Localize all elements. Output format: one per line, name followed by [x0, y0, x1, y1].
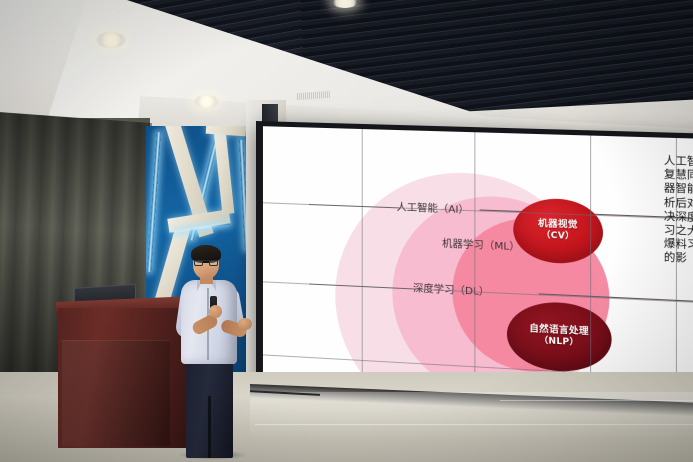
presenter-leg-seam	[208, 396, 211, 458]
bezel-seam-vertical	[362, 129, 363, 382]
floor-tile-seam	[255, 424, 693, 425]
slide-side-text: 人工智造复慧同机器智能解析后对出决深度学习之大数爆料习造的影	[664, 154, 693, 267]
lightning-bolt-decor	[206, 126, 247, 136]
glasses-bridge-icon	[194, 260, 218, 266]
led-strip-icon	[147, 132, 161, 272]
lightning-bolt-decor	[214, 130, 235, 215]
label-ml: 机器学习（ML）	[442, 235, 520, 254]
ellipse-nlp-line2: （NLP）	[539, 336, 579, 350]
bezel-seam-vertical	[590, 136, 591, 396]
bezel-seam-vertical	[676, 138, 677, 401]
presentation-slide: 人工智能（AI） 机器学习（ML） 深度学习（DL） 机器视觉 （CV） 自然语…	[263, 126, 693, 403]
photo-scene: 人工智能（AI） 机器学习（ML） 深度学习（DL） 机器视觉 （CV） 自然语…	[0, 0, 693, 462]
video-wall-screen[interactable]: 人工智能（AI） 机器学习（ML） 深度学习（DL） 机器视觉 （CV） 自然语…	[263, 126, 693, 403]
presenter-right-hand	[238, 318, 252, 330]
downlight-icon	[96, 32, 126, 48]
podium-front-panel	[62, 340, 170, 446]
downlight-icon	[194, 95, 219, 108]
ellipse-cv-line2: （CV）	[541, 230, 574, 243]
floor-reflection	[250, 392, 693, 462]
floor-tile-seam	[500, 400, 693, 401]
bezel-seam-vertical	[474, 132, 475, 389]
presenter-left-hand	[209, 305, 222, 318]
